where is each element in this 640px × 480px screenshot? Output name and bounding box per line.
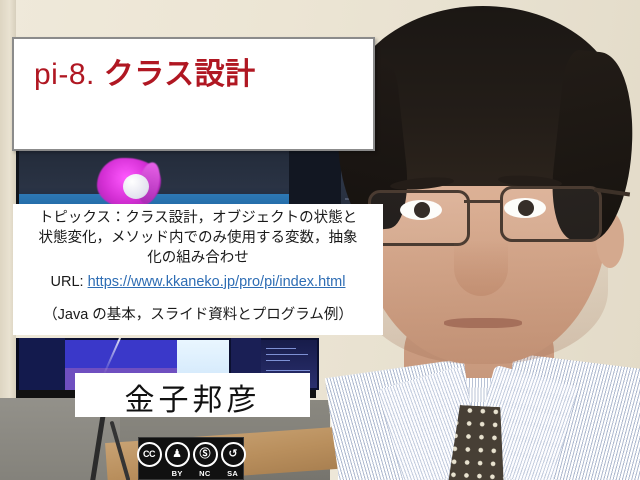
topics-line-1: トピックス：クラス設計，オブジェクトの状態と bbox=[17, 208, 379, 228]
cc-label-spacer bbox=[139, 469, 160, 478]
monitor-upper bbox=[16, 150, 389, 212]
topics-line-2: 状態変化，メソッド内でのみ使用する変数，抽象 bbox=[17, 228, 379, 248]
eyeglass-bridge bbox=[464, 200, 502, 203]
text-line bbox=[266, 354, 308, 355]
page-title: pi-8. クラス設計 bbox=[34, 49, 256, 93]
title-japanese: クラス設計 bbox=[104, 58, 256, 91]
subtitle-line: （Java の基本，スライド資料とプログラム例） bbox=[17, 303, 379, 324]
noncommercial-crossed-dollar-icon: Ⓢ bbox=[193, 442, 218, 467]
cc-label-by: BY bbox=[167, 469, 188, 478]
title-number: pi-8. bbox=[34, 58, 104, 91]
author-name-box: 金子邦彦 bbox=[75, 373, 310, 417]
slide-container: pi-8. クラス設計 トピックス：クラス設計，オブジェクトの状態と 状態変化，… bbox=[0, 0, 640, 480]
presenter-portrait bbox=[338, 0, 640, 480]
topics-box: トピックス：クラス設計，オブジェクトの状態と 状態変化，メソッド内でのみ使用する… bbox=[13, 204, 383, 335]
cc-label-nc: NC bbox=[195, 469, 216, 478]
monitor-lower-pane-1 bbox=[19, 338, 65, 390]
cc-label-sa: SA bbox=[222, 469, 243, 478]
share-alike-icon: ↺ bbox=[221, 442, 246, 467]
course-url-link[interactable]: https://www.kkaneko.jp/pro/pi/index.html bbox=[88, 274, 346, 290]
eyeglasses bbox=[368, 186, 600, 240]
url-line: URL: https://www.kkaneko.jp/pro/pi/index… bbox=[17, 274, 379, 290]
monitor-upper-3d-sphere bbox=[123, 174, 149, 199]
topics-line-3: 化の組み合わせ bbox=[17, 248, 379, 268]
monitor-lower-pane-2 bbox=[65, 340, 177, 368]
cc-label-row: BY NC SA bbox=[139, 469, 243, 478]
url-label: URL: bbox=[51, 274, 88, 290]
nose bbox=[454, 240, 508, 296]
eyeglass-lens-right bbox=[500, 186, 602, 242]
cc-icon-row: CC ♟ Ⓢ ↺ bbox=[137, 438, 246, 467]
mouth bbox=[444, 318, 522, 328]
monitor-upper-dark-area bbox=[289, 150, 341, 212]
creative-commons-icon: CC bbox=[137, 442, 162, 467]
author-name: 金子邦彦 bbox=[75, 375, 310, 419]
text-line bbox=[266, 370, 310, 371]
text-line bbox=[266, 348, 296, 349]
text-line bbox=[266, 360, 290, 361]
title-box: pi-8. クラス設計 bbox=[12, 37, 375, 151]
topics-text: トピックス：クラス設計，オブジェクトの状態と 状態変化，メソッド内でのみ使用する… bbox=[17, 208, 379, 268]
cc-license-badge[interactable]: CC ♟ Ⓢ ↺ BY NC SA bbox=[138, 437, 244, 480]
attribution-person-icon: ♟ bbox=[165, 442, 190, 467]
eyeglass-lens-left bbox=[368, 190, 470, 246]
